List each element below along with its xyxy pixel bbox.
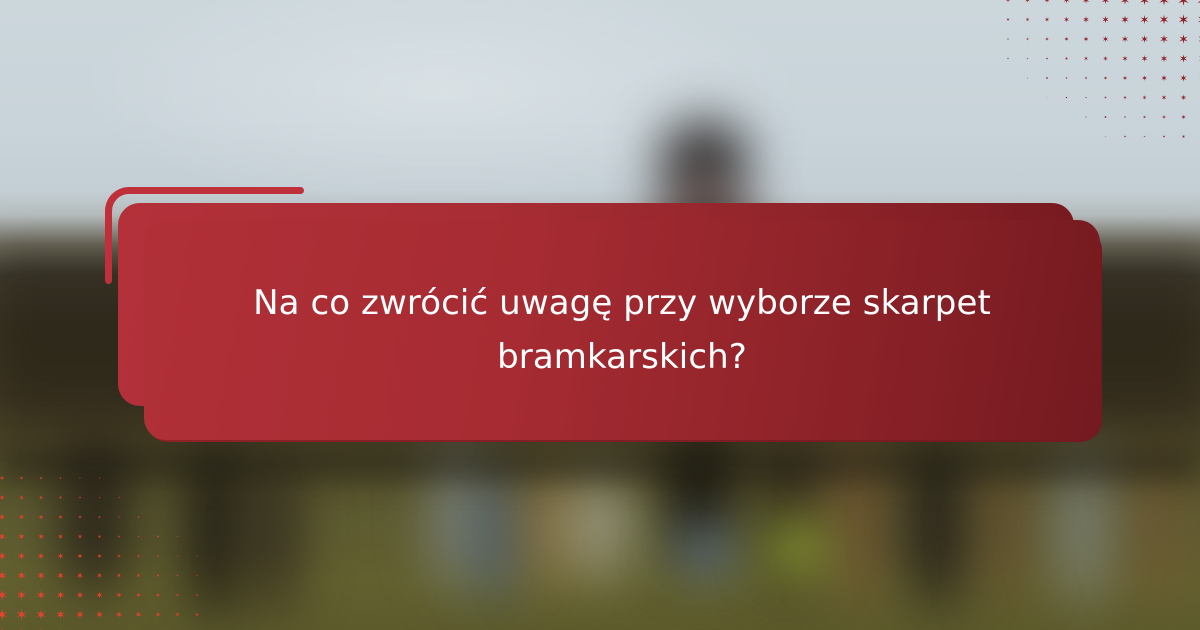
hero-banner: Na co zwrócić uwagę przy wyborze skarpet… <box>0 0 1200 630</box>
card-title-line-2: bramkarskich? <box>497 330 747 384</box>
background-fence-bar <box>0 452 1200 478</box>
card-title: Na co zwrócić uwagę przy wyborze skarpet… <box>144 220 1100 440</box>
card-title-line-1: Na co zwrócić uwagę przy wyborze skarpet <box>253 276 991 330</box>
football-ball <box>770 520 822 576</box>
player-silhouette <box>250 455 298 615</box>
player-silhouette <box>565 470 635 580</box>
player-silhouette <box>672 530 744 572</box>
